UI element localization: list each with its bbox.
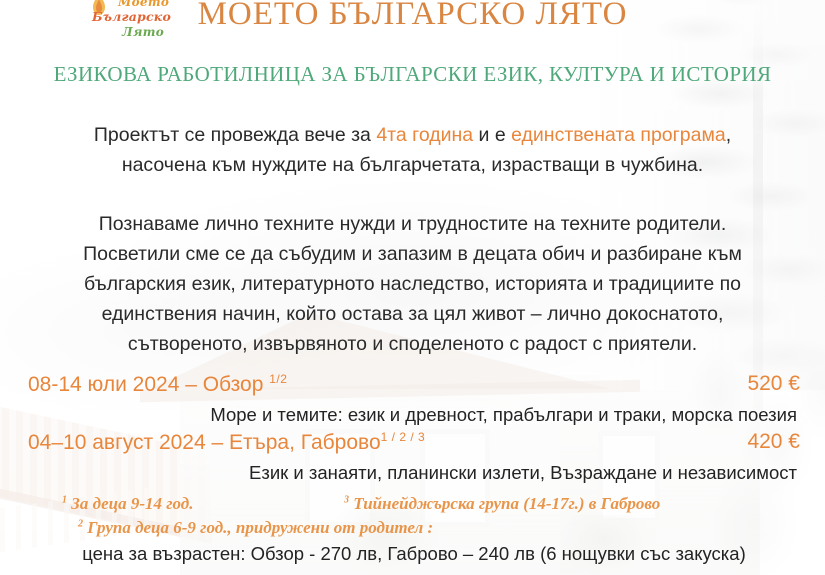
footnote: 2 Група деца 6-9 год., придружени от род… (78, 518, 433, 538)
offer-footnote-markers: 1 / 2 / 3 (381, 430, 426, 444)
offer-themes: Език и занаяти, планински излети, Възраж… (249, 462, 797, 484)
about-line-5: сътвореното, извървяното и споделеното с… (128, 333, 697, 355)
about-line-4: единствения начин, който остава за цял ж… (102, 303, 724, 325)
adult-price-note: цена за възрастен: Обзор - 270 лв, Габро… (28, 543, 800, 565)
offer-themes: Море и темите: език и древност, прабълга… (210, 404, 797, 426)
intro-text-2: и е (473, 124, 511, 146)
offer-date: 04–10 август 2024 – Етъра, Габрово1 / 2 … (28, 430, 425, 455)
offer-date-text: 04–10 август 2024 – Етъра, Габрово (28, 431, 381, 454)
footnote-text: Тийнейджърска група (14-17г.) в Габрово (349, 494, 660, 513)
intro-text-1: Проектът се провежда вече за (94, 124, 376, 146)
about-line-3: българския език, литературното наследств… (84, 273, 741, 295)
page-subtitle: ЕЗИКОВА РАБОТИЛНИЦА ЗА БЪЛГАРСКИ ЕЗИК, К… (0, 62, 825, 87)
intro-text-3: , (726, 124, 731, 146)
poster-root: Моето Българско Лято МОЕТО БЪЛГАРСКО ЛЯТ… (0, 0, 825, 575)
about-paragraph: Познаваме лично техните нужди и трудност… (34, 209, 791, 359)
offer-date-text: 08-14 юли 2024 – Обзор (28, 373, 269, 396)
footnote: 1 За деца 9-14 год. (62, 494, 193, 514)
poster-content: Моето Българско Лято МОЕТО БЪЛГАРСКО ЛЯТ… (0, 0, 825, 575)
about-line-1: Познаваме лично техните нужди и трудност… (99, 213, 727, 235)
footnote-text: Група деца 6-9 год., придружени от родит… (83, 518, 433, 537)
intro-line-2: насочена към нуждите на българчетата, из… (122, 154, 703, 176)
offer-row: 08-14 юли 2024 – Обзор 1/2 520 € (28, 372, 800, 402)
footnote-text: За деца 9-14 год. (67, 494, 193, 513)
offer-date: 08-14 юли 2024 – Обзор 1/2 (28, 372, 287, 397)
offer-price: 420 € (747, 430, 800, 454)
intro-paragraph: Проектът се провежда вече за 4та година … (34, 120, 791, 180)
offer-footnote-markers: 1/2 (269, 372, 287, 386)
about-line-2: Посветили сме се да събудим и запазим в … (83, 243, 742, 265)
intro-highlight-program: единствената програма (511, 124, 726, 146)
page-title: МОЕТО БЪЛГАРСКО ЛЯТО (0, 0, 825, 33)
offer-price: 520 € (747, 372, 800, 396)
offer-row: 04–10 август 2024 – Етъра, Габрово1 / 2 … (28, 430, 800, 460)
intro-highlight-year: 4та година (376, 124, 473, 146)
footnote: 3 Тийнейджърска група (14-17г.) в Габров… (344, 494, 660, 514)
